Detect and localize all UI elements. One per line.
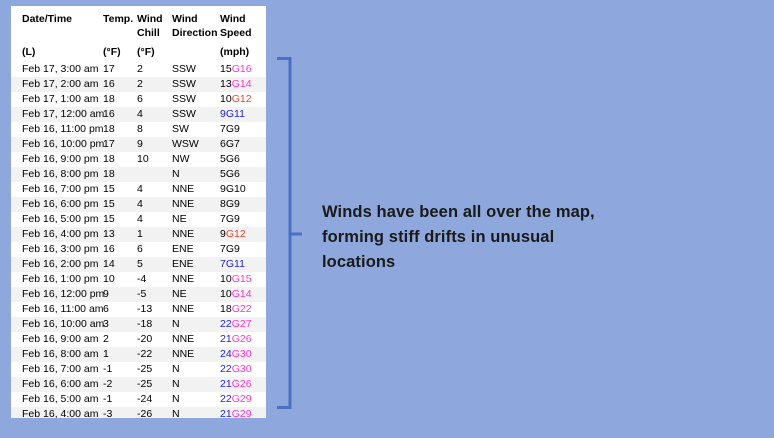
table-row: Feb 16, 1:00 pm10-4NNE10G15	[11, 272, 266, 287]
cell-temp: -1	[103, 392, 137, 407]
column-header-temp-line2	[103, 27, 137, 41]
cell-winddirection: SSW	[172, 107, 220, 122]
table-row: Feb 16, 10:00 pm179WSW6G7	[11, 137, 266, 152]
cell-temp: 16	[103, 107, 137, 122]
range-bracket	[276, 56, 302, 410]
wind-speed-value: 18	[220, 303, 232, 315]
cell-windspeed: 7G9	[220, 122, 266, 137]
column-unit-temp: (°F)	[103, 40, 137, 62]
cell-temp: 18	[103, 92, 137, 107]
table-header: Date/Time Temp. Wind Wind Wind Chill Dir…	[11, 6, 266, 62]
cell-winddirection: N	[172, 362, 220, 377]
cell-windspeed: 9G10	[220, 182, 266, 197]
cell-datetime: Feb 16, 10:00 pm	[11, 137, 103, 152]
cell-temp: 10	[103, 272, 137, 287]
cell-datetime: Feb 16, 11:00 am	[11, 302, 103, 317]
cell-windchill: -26	[137, 407, 172, 419]
cell-windspeed: 9G12	[220, 227, 266, 242]
cell-datetime: Feb 16, 8:00 pm	[11, 167, 103, 182]
table-row: Feb 16, 4:00 am-3-26N21G29	[11, 407, 266, 419]
cell-winddirection: N	[172, 392, 220, 407]
wind-gust-value: G16	[232, 63, 252, 75]
wind-gust-value: G7	[226, 138, 240, 150]
cell-winddirection: SW	[172, 122, 220, 137]
cell-datetime: Feb 17, 12:00 am	[11, 107, 103, 122]
column-unit-windchill: (°F)	[137, 40, 172, 62]
table-header-row-units: (L) (°F) (°F) (mph)	[11, 40, 266, 62]
callout-line-1: Winds have been all over the map,	[322, 200, 722, 225]
table-row: Feb 16, 3:00 pm166ENE7G9	[11, 242, 266, 257]
cell-temp: 16	[103, 242, 137, 257]
cell-windspeed: 22G29	[220, 392, 266, 407]
cell-windchill: 9	[137, 137, 172, 152]
observation-table-panel: Date/Time Temp. Wind Wind Wind Chill Dir…	[11, 6, 266, 418]
cell-windchill: 10	[137, 152, 172, 167]
cell-datetime: Feb 16, 7:00 am	[11, 362, 103, 377]
cell-winddirection: ENE	[172, 257, 220, 272]
cell-windchill: 5	[137, 257, 172, 272]
cell-winddirection: NNE	[172, 347, 220, 362]
wind-speed-value: 21	[220, 378, 232, 390]
cell-windchill: 4	[137, 197, 172, 212]
cell-temp: 18	[103, 152, 137, 167]
cell-datetime: Feb 16, 2:00 pm	[11, 257, 103, 272]
wind-gust-value: G29	[232, 408, 252, 419]
cell-windchill: 6	[137, 242, 172, 257]
cell-datetime: Feb 16, 6:00 am	[11, 377, 103, 392]
cell-temp: 16	[103, 77, 137, 92]
cell-windchill: 2	[137, 62, 172, 77]
cell-winddirection: NNE	[172, 182, 220, 197]
cell-datetime: Feb 16, 4:00 pm	[11, 227, 103, 242]
cell-windspeed: 5G6	[220, 167, 266, 182]
wind-gust-value: G9	[226, 243, 240, 255]
cell-temp: 2	[103, 332, 137, 347]
bracket-stroke	[279, 59, 302, 408]
column-header-datetime: Date/Time	[11, 6, 103, 27]
table-body: Feb 17, 3:00 am172SSW15G16Feb 17, 2:00 a…	[11, 62, 266, 419]
wind-gust-value: G9	[226, 198, 240, 210]
column-unit-windspeed: (mph)	[220, 40, 266, 62]
table-row: Feb 16, 5:00 am-1-24N22G29	[11, 392, 266, 407]
cell-datetime: Feb 16, 5:00 pm	[11, 212, 103, 227]
wind-gust-value: G12	[226, 228, 246, 240]
cell-windchill: 8	[137, 122, 172, 137]
table-row: Feb 16, 5:00 pm154NE7G9	[11, 212, 266, 227]
cell-windchill: -20	[137, 332, 172, 347]
callout-line-3: locations	[322, 250, 722, 275]
cell-temp: -3	[103, 407, 137, 419]
wind-gust-value: G9	[226, 213, 240, 225]
cell-datetime: Feb 16, 10:00 am	[11, 317, 103, 332]
wind-speed-value: 10	[220, 93, 232, 105]
wind-gust-value: G14	[232, 78, 252, 90]
wind-gust-value: G26	[232, 333, 252, 345]
cell-windspeed: 18G22	[220, 302, 266, 317]
cell-windchill: -24	[137, 392, 172, 407]
wind-gust-value: G15	[232, 273, 252, 285]
table-row: Feb 16, 11:00 pm188SW7G9	[11, 122, 266, 137]
cell-temp: 6	[103, 302, 137, 317]
cell-windspeed: 24G30	[220, 347, 266, 362]
wind-gust-value: G29	[232, 393, 252, 405]
table-row: Feb 16, 12:00 pm9-5NE10G14	[11, 287, 266, 302]
weather-observations-table: Date/Time Temp. Wind Wind Wind Chill Dir…	[11, 6, 266, 418]
table-header-row-primary: Date/Time Temp. Wind Wind Wind	[11, 6, 266, 27]
cell-datetime: Feb 16, 4:00 am	[11, 407, 103, 419]
cell-temp: 1	[103, 347, 137, 362]
table-header-row-secondary: Chill Direction Speed	[11, 27, 266, 41]
column-unit-winddirection	[172, 40, 220, 62]
cell-windchill: -18	[137, 317, 172, 332]
cell-datetime: Feb 16, 11:00 pm	[11, 122, 103, 137]
wind-speed-value: 21	[220, 333, 232, 345]
cell-temp: 14	[103, 257, 137, 272]
cell-temp: 18	[103, 122, 137, 137]
wind-gust-value: G30	[232, 363, 252, 375]
cell-windchill: 1	[137, 227, 172, 242]
cell-windspeed: 10G14	[220, 287, 266, 302]
table-row: Feb 16, 7:00 am-1-25N22G30	[11, 362, 266, 377]
column-header-windchill-line1: Wind	[137, 6, 172, 27]
wind-speed-value: 15	[220, 63, 232, 75]
table-row: Feb 16, 6:00 pm154NNE8G9	[11, 197, 266, 212]
cell-windchill: -25	[137, 362, 172, 377]
cell-windspeed: 13G14	[220, 77, 266, 92]
cell-windspeed: 22G27	[220, 317, 266, 332]
wind-gust-value: G14	[232, 288, 252, 300]
wind-speed-value: 22	[220, 318, 232, 330]
cell-windspeed: 8G9	[220, 197, 266, 212]
table-row: Feb 16, 9:00 pm1810NW5G6	[11, 152, 266, 167]
table-row: Feb 16, 10:00 am3-18N22G27	[11, 317, 266, 332]
cell-winddirection: NE	[172, 287, 220, 302]
cell-windchill: 4	[137, 212, 172, 227]
cell-datetime: Feb 17, 2:00 am	[11, 77, 103, 92]
cell-windspeed: 7G9	[220, 212, 266, 227]
wind-speed-value: 21	[220, 408, 232, 419]
cell-windspeed: 10G15	[220, 272, 266, 287]
wind-gust-value: G26	[232, 378, 252, 390]
cell-temp: 3	[103, 317, 137, 332]
cell-temp: -1	[103, 362, 137, 377]
table-row: Feb 16, 8:00 am1-22NNE24G30	[11, 347, 266, 362]
cell-winddirection: NNE	[172, 272, 220, 287]
table-row: Feb 16, 11:00 am6-13NNE18G22	[11, 302, 266, 317]
cell-windspeed: 9G11	[220, 107, 266, 122]
cell-windspeed: 10G12	[220, 92, 266, 107]
cell-temp: 15	[103, 197, 137, 212]
cell-winddirection: NNE	[172, 197, 220, 212]
cell-winddirection: NNE	[172, 332, 220, 347]
callout-text: Winds have been all over the map, formin…	[322, 200, 722, 275]
cell-windchill: 2	[137, 77, 172, 92]
wind-speed-value: 22	[220, 363, 232, 375]
table-row: Feb 17, 3:00 am172SSW15G16	[11, 62, 266, 77]
cell-temp: 18	[103, 167, 137, 182]
cell-datetime: Feb 16, 9:00 pm	[11, 152, 103, 167]
cell-datetime: Feb 17, 3:00 am	[11, 62, 103, 77]
cell-windspeed: 21G26	[220, 332, 266, 347]
wind-gust-value: G27	[232, 318, 252, 330]
table-row: Feb 16, 8:00 pm18N5G6	[11, 167, 266, 182]
cell-winddirection: SSW	[172, 62, 220, 77]
cell-windchill: 6	[137, 92, 172, 107]
cell-winddirection: NW	[172, 152, 220, 167]
cell-datetime: Feb 16, 6:00 pm	[11, 197, 103, 212]
cell-windspeed: 21G29	[220, 407, 266, 419]
wind-gust-value: G22	[232, 303, 252, 315]
column-header-windchill-line2: Chill	[137, 27, 172, 41]
cell-windchill: 4	[137, 107, 172, 122]
wind-speed-value: 10	[220, 288, 232, 300]
cell-datetime: Feb 16, 7:00 pm	[11, 182, 103, 197]
cell-datetime: Feb 16, 5:00 am	[11, 392, 103, 407]
cell-datetime: Feb 17, 1:00 am	[11, 92, 103, 107]
wind-gust-value: G6	[226, 153, 240, 165]
wind-gust-value: G12	[232, 93, 252, 105]
cell-winddirection: WSW	[172, 137, 220, 152]
cell-winddirection: ENE	[172, 242, 220, 257]
cell-datetime: Feb 16, 8:00 am	[11, 347, 103, 362]
cell-temp: 13	[103, 227, 137, 242]
wind-speed-value: 24	[220, 348, 232, 360]
table-row: Feb 17, 1:00 am186SSW10G12	[11, 92, 266, 107]
wind-gust-value: G30	[232, 348, 252, 360]
column-header-winddirection-line2: Direction	[172, 27, 220, 41]
table-row: Feb 16, 6:00 am-2-25N21G26	[11, 377, 266, 392]
wind-speed-value: 22	[220, 393, 232, 405]
slide-canvas: Date/Time Temp. Wind Wind Wind Chill Dir…	[0, 0, 774, 438]
cell-temp: 17	[103, 137, 137, 152]
column-header-windspeed-line1: Wind	[220, 6, 266, 27]
wind-gust-value: G11	[226, 258, 245, 270]
cell-datetime: Feb 16, 1:00 pm	[11, 272, 103, 287]
table-row: Feb 16, 7:00 pm154NNE9G10	[11, 182, 266, 197]
wind-speed-value: 10	[220, 273, 232, 285]
cell-winddirection: SSW	[172, 77, 220, 92]
wind-speed-value: 13	[220, 78, 232, 90]
column-header-temp: Temp.	[103, 6, 137, 27]
cell-windchill: -22	[137, 347, 172, 362]
cell-datetime: Feb 16, 3:00 pm	[11, 242, 103, 257]
cell-datetime: Feb 16, 9:00 am	[11, 332, 103, 347]
cell-windspeed: 5G6	[220, 152, 266, 167]
cell-windchill	[137, 167, 172, 182]
column-header-windspeed-line2: Speed	[220, 27, 266, 41]
cell-winddirection: N	[172, 407, 220, 419]
table-row: Feb 16, 9:00 am2-20NNE21G26	[11, 332, 266, 347]
cell-windspeed: 21G26	[220, 377, 266, 392]
cell-temp: 15	[103, 212, 137, 227]
cell-windchill: -4	[137, 272, 172, 287]
table-row: Feb 16, 4:00 pm131NNE9G12	[11, 227, 266, 242]
cell-temp: 15	[103, 182, 137, 197]
cell-windchill: 4	[137, 182, 172, 197]
wind-gust-value: G10	[226, 183, 246, 195]
cell-windchill: -5	[137, 287, 172, 302]
table-row: Feb 17, 12:00 am164SSW9G11	[11, 107, 266, 122]
cell-windspeed: 15G16	[220, 62, 266, 77]
cell-windspeed: 6G7	[220, 137, 266, 152]
cell-temp: 9	[103, 287, 137, 302]
cell-temp: -2	[103, 377, 137, 392]
cell-datetime: Feb 16, 12:00 pm	[11, 287, 103, 302]
cell-winddirection: SSW	[172, 92, 220, 107]
wind-gust-value: G9	[226, 123, 240, 135]
cell-winddirection: NNE	[172, 227, 220, 242]
column-unit-datetime: (L)	[11, 40, 103, 62]
cell-temp: 17	[103, 62, 137, 77]
cell-windchill: -13	[137, 302, 172, 317]
cell-windspeed: 7G11	[220, 257, 266, 272]
cell-winddirection: N	[172, 317, 220, 332]
cell-windspeed: 22G30	[220, 362, 266, 377]
cell-winddirection: N	[172, 167, 220, 182]
wind-gust-value: G11	[226, 108, 245, 120]
cell-windspeed: 7G9	[220, 242, 266, 257]
cell-winddirection: NNE	[172, 302, 220, 317]
wind-gust-value: G6	[226, 168, 240, 180]
cell-windchill: -25	[137, 377, 172, 392]
column-header-datetime-line2	[11, 27, 103, 41]
table-row: Feb 17, 2:00 am162SSW13G14	[11, 77, 266, 92]
table-row: Feb 16, 2:00 pm145ENE7G11	[11, 257, 266, 272]
callout-line-2: forming stiff drifts in unusual	[322, 225, 722, 250]
column-header-winddirection-line1: Wind	[172, 6, 220, 27]
cell-winddirection: N	[172, 377, 220, 392]
cell-winddirection: NE	[172, 212, 220, 227]
